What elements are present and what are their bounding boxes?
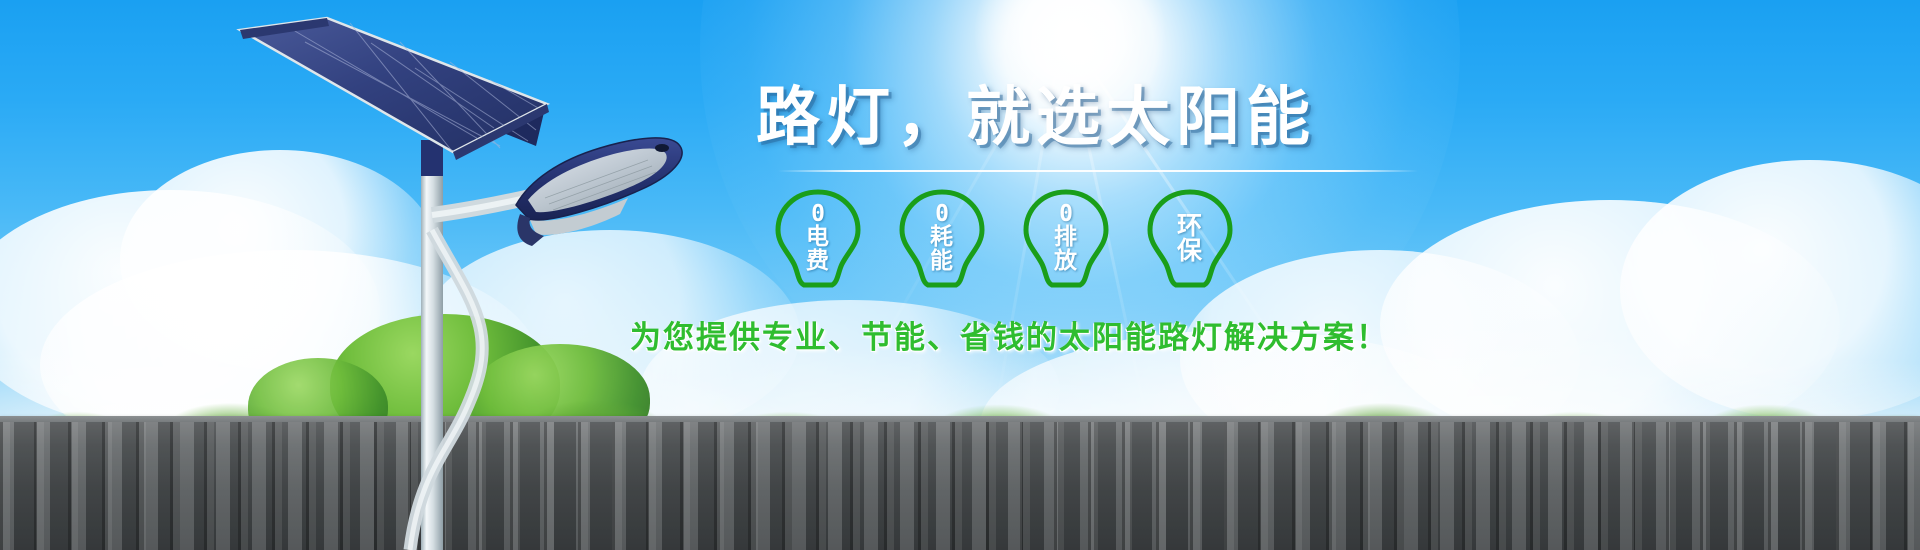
feature-bulb-energy-consumption: 0 耗 能 [894, 186, 990, 290]
feature-bulb-text: 0 耗 能 [930, 203, 954, 273]
feature-bulb-text: 0 电 费 [806, 203, 830, 273]
feature-zero-label: 0 [935, 203, 949, 226]
feature-word-line: 环 [1177, 213, 1203, 239]
tiled-wall [0, 422, 1920, 550]
page-title: 路灯，就选太阳能 [756, 86, 1498, 150]
headline-underline [778, 170, 1418, 172]
feature-bulb-text: 0 排 放 [1054, 203, 1078, 273]
feature-bulb-emissions: 0 排 放 [1018, 186, 1114, 290]
cloud [1620, 160, 1920, 420]
feature-bulb-list: 0 电 费 0 耗 能 0 [770, 186, 1498, 290]
feature-bulb-electricity-fee: 0 电 费 [770, 186, 866, 290]
feature-word-line: 耗 [930, 226, 954, 249]
feature-word-line: 电 [806, 226, 830, 249]
feature-bulb-text: 环 保 [1177, 213, 1203, 264]
banner-tagline: 为您提供专业、节能、省钱的太阳能路灯解决方案！ [630, 312, 1498, 357]
feature-bulb-eco-friendly: 环 保 [1142, 186, 1238, 290]
feature-zero-label: 0 [1059, 203, 1073, 226]
wall-tile-pattern [0, 422, 1920, 550]
feature-word-line: 能 [930, 250, 954, 273]
solar-street-lamp-banner: 路灯，就选太阳能 0 电 费 0 耗 能 [0, 0, 1920, 550]
feature-word-line: 排 [1054, 226, 1078, 249]
feature-word-line: 保 [1177, 238, 1203, 264]
feature-word-line: 放 [1054, 250, 1078, 273]
feature-word-line: 费 [806, 250, 830, 273]
feature-zero-label: 0 [811, 203, 825, 226]
banner-copy: 路灯，就选太阳能 0 电 费 0 耗 能 [618, 86, 1498, 357]
